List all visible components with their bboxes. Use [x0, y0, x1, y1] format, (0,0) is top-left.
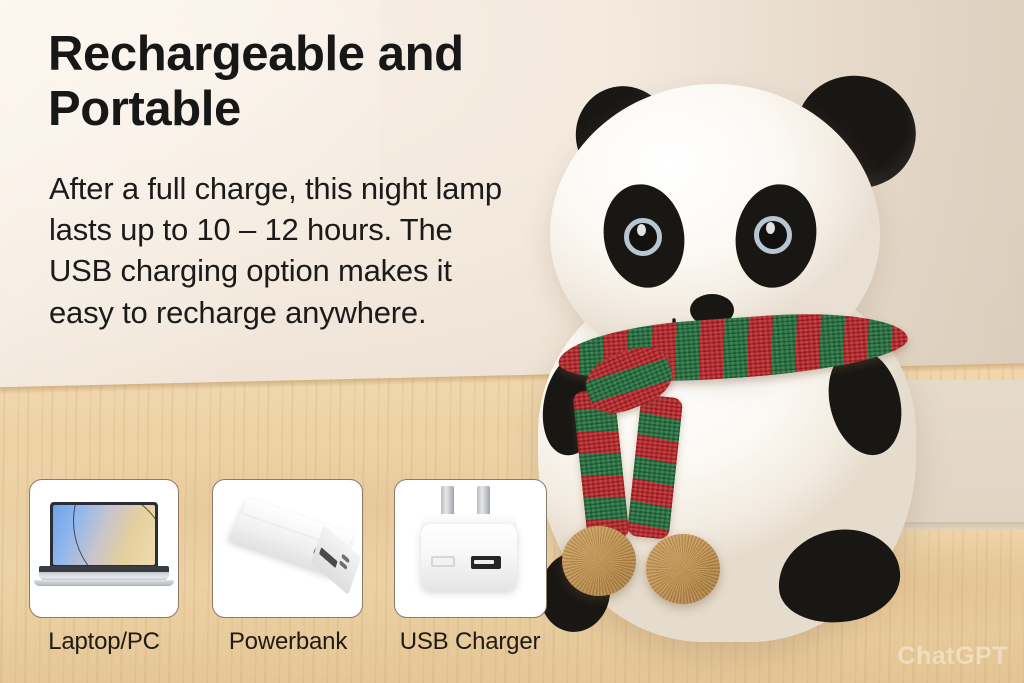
striped-scarf — [500, 60, 980, 650]
compatibility-label-powerbank: Powerbank — [190, 628, 386, 656]
scarf-tail-right — [627, 394, 684, 540]
charger-usb-port-right — [471, 556, 501, 569]
compatibility-card-powerbank[interactable] — [212, 479, 363, 618]
compatibility-card-laptop[interactable] — [29, 479, 179, 618]
scarf-pompom-left — [562, 526, 636, 596]
page-title: Rechargeable and Portable — [48, 27, 558, 137]
laptop-keyboard-base — [39, 566, 169, 581]
watermark: ChatGPT — [898, 642, 1008, 671]
scarf-pompom-right — [646, 534, 720, 604]
laptop-icon — [50, 502, 158, 568]
powerbank-usb-port — [319, 547, 338, 568]
body-description: After a full charge, this night lamp las… — [49, 168, 519, 333]
compatibility-label-laptop: Laptop/PC — [0, 628, 208, 656]
compatibility-label-usb-charger: USB Charger — [370, 628, 570, 656]
charger-usb-port-left — [431, 556, 455, 567]
laptop-front-edge — [34, 580, 174, 586]
product-marketing-image: Rechargeable and Portable After a full c… — [0, 0, 1024, 683]
panda-night-lamp — [500, 60, 980, 650]
compatibility-card-usb-charger[interactable] — [394, 479, 547, 618]
